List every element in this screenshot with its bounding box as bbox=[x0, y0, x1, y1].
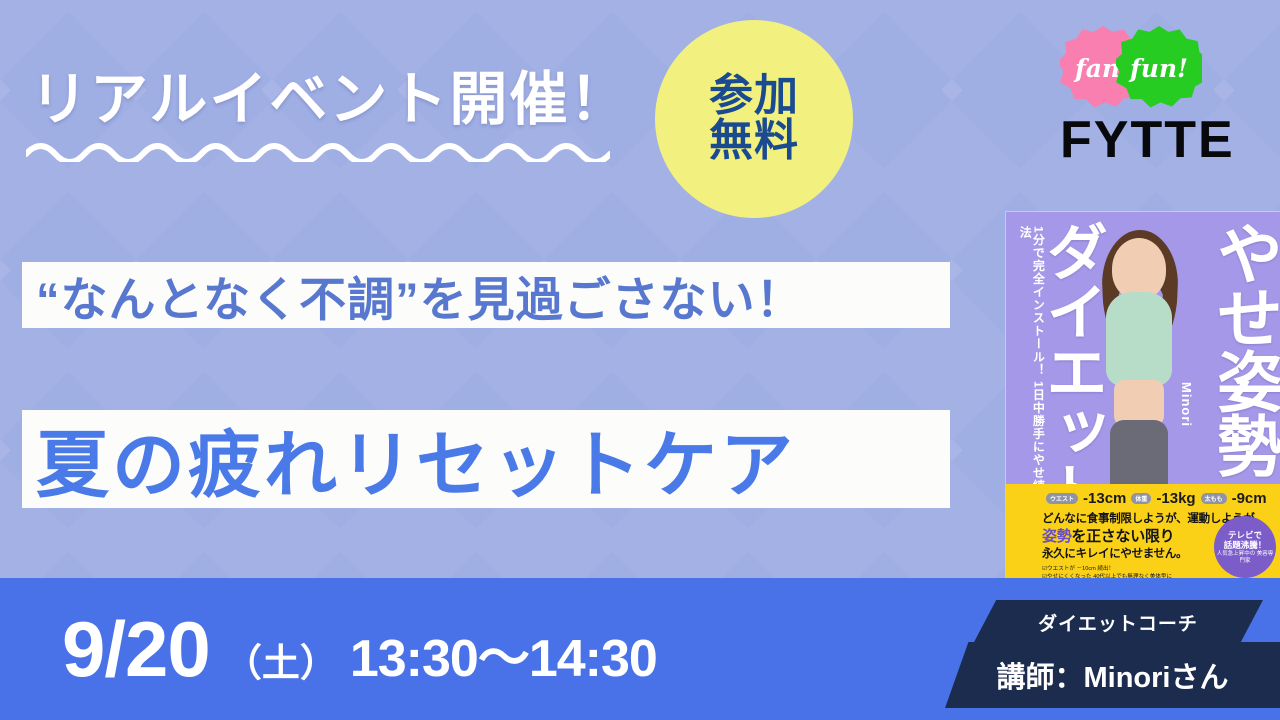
tv-badge: テレビで 話題沸騰！ 人気急上昇中の 美容専門家 bbox=[1214, 516, 1276, 578]
book-stats: ウエスト -13cm 体重 -13kg 太もも -9cm bbox=[1046, 490, 1267, 507]
book-copy-emphasis: 姿勢 bbox=[1042, 528, 1071, 545]
subtitle-banner-1-text: “なんとなく不調”を見過ごさない！ bbox=[36, 261, 804, 330]
event-time: 13:30〜14:30 bbox=[350, 616, 657, 691]
book-title-right: やせ姿勢 bbox=[1213, 220, 1276, 510]
tv-badge-sub: 人気急上昇中の 美容専門家 bbox=[1214, 551, 1276, 565]
subtitle-banner-1: “なんとなく不調”を見過ごさない！ bbox=[22, 262, 950, 328]
free-badge-line1: 参加 bbox=[709, 74, 799, 119]
fytte-logo[interactable]: fan! fun! FYTTE bbox=[1060, 26, 1260, 166]
event-day-of-week: （土） bbox=[224, 632, 338, 687]
speaker-role: ダイエットコーチ bbox=[1038, 609, 1198, 636]
model-head bbox=[1112, 238, 1166, 300]
event-datetime: 9/20 （土） 13:30〜14:30 bbox=[62, 604, 657, 695]
speaker-role-ribbon: ダイエットコーチ bbox=[973, 600, 1263, 644]
event-date: 9/20 bbox=[62, 604, 210, 695]
book-bullet-1: ☑ウエストが －10cm 続出！ bbox=[1042, 565, 1190, 573]
stat-label-waist: ウエスト bbox=[1046, 493, 1078, 504]
subtitle-banner-2: 夏の疲れリセットケア bbox=[22, 410, 950, 508]
tv-badge-line2: 話題沸騰！ bbox=[1224, 540, 1267, 551]
logo-badges: fan! fun! bbox=[1060, 26, 1260, 110]
stat-value-thigh: -9cm bbox=[1232, 490, 1267, 507]
model-top bbox=[1106, 292, 1172, 386]
stat-label-weight: 体重 bbox=[1131, 493, 1151, 504]
free-badge-line2: 無料 bbox=[709, 119, 799, 164]
event-banner: リアルイベント開催！ 参加 無料 fan! fun! FYTTE “なんとなく不… bbox=[0, 0, 1280, 720]
fytte-wordmark: FYTTE bbox=[1060, 114, 1260, 166]
headline-text: リアルイベント開催！ bbox=[30, 52, 629, 136]
stat-value-waist: -13cm bbox=[1083, 490, 1126, 507]
book-author: Minori bbox=[1179, 382, 1194, 427]
book-copy-line2-rest: を正さない限り bbox=[1071, 528, 1174, 545]
stat-label-thigh: 太もも bbox=[1201, 493, 1227, 504]
free-participation-badge: 参加 無料 bbox=[655, 20, 853, 218]
tv-badge-line1: テレビで bbox=[1228, 530, 1262, 541]
speaker-name-ribbon: 講師：Minoriさん bbox=[945, 642, 1280, 708]
speaker-name: 講師：Minoriさん bbox=[997, 654, 1229, 696]
stat-value-weight: -13kg bbox=[1156, 490, 1195, 507]
subtitle-banner-2-text: 夏の疲れリセットケア bbox=[36, 406, 796, 512]
wavy-underline-icon bbox=[26, 136, 610, 162]
speaker-ribbon: ダイエットコーチ 講師：Minoriさん bbox=[945, 600, 1280, 712]
book-cover-image: 1分で完全インストール！ 1日中勝手にやせ続ける方法 ダイエット やせ姿勢 Mi… bbox=[1006, 212, 1280, 594]
